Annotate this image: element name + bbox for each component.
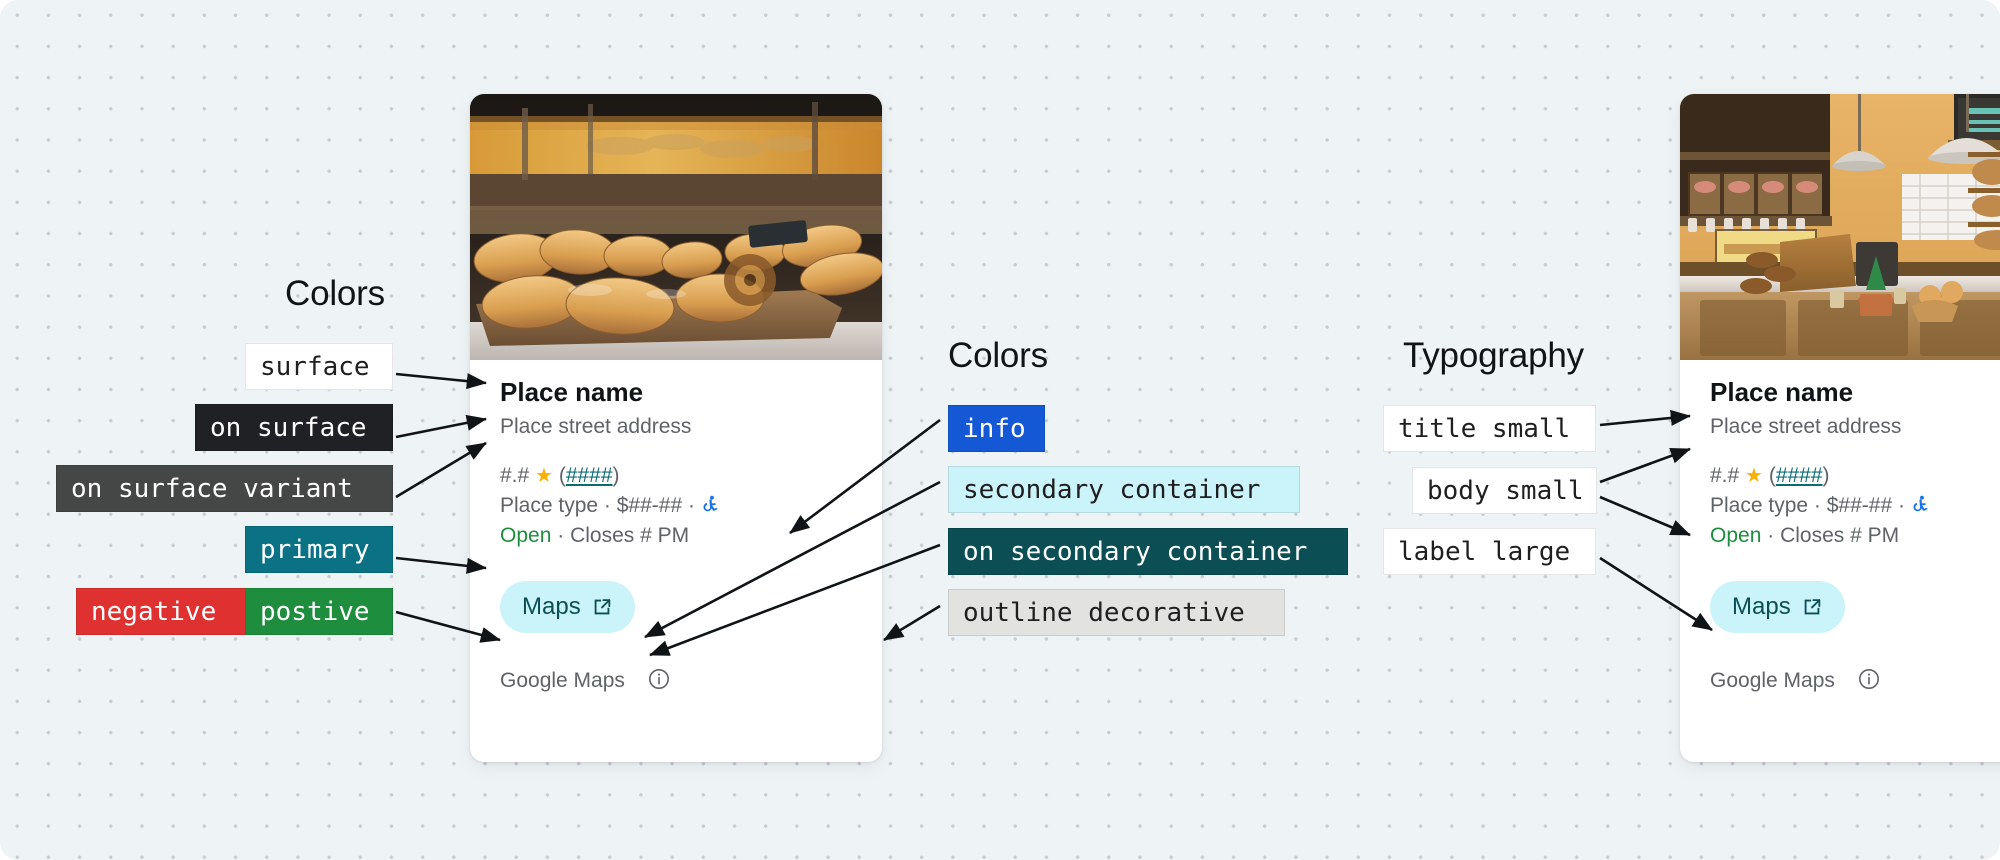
color-chip-label: surface bbox=[260, 354, 370, 380]
place-name: Place name bbox=[1710, 376, 2000, 409]
place-rating-row: #.# ★ (####) bbox=[1710, 462, 2000, 490]
status-open: Open bbox=[1710, 524, 1761, 547]
type-chip-title-small[interactable]: title small bbox=[1383, 405, 1596, 452]
place-type: Place type bbox=[1710, 494, 1808, 517]
color-chip-secondary-container[interactable]: secondary container bbox=[948, 466, 1300, 513]
type-chip-label: label large bbox=[1398, 539, 1570, 565]
rating-value: #.# bbox=[1710, 464, 1739, 487]
dot-separator: · bbox=[604, 494, 611, 517]
dot-separator: · bbox=[1814, 494, 1821, 517]
place-type-row: Place type · $##-## · bbox=[500, 492, 852, 520]
place-card-body: Place name Place street address #.# ★ (#… bbox=[1680, 376, 2000, 722]
place-type: Place type bbox=[500, 494, 598, 517]
color-chip-surface[interactable]: surface bbox=[245, 343, 393, 390]
section-title-colors-left: Colors bbox=[285, 274, 385, 314]
color-chip-label: info bbox=[963, 416, 1026, 442]
google-maps-attribution: Google Maps bbox=[500, 669, 625, 693]
color-chip-info[interactable]: info bbox=[948, 405, 1045, 452]
place-type-row: Place type · $##-## · bbox=[1710, 492, 2000, 520]
type-chip-label-large[interactable]: label large bbox=[1383, 528, 1596, 575]
color-chip-label: on surface variant bbox=[71, 476, 353, 502]
place-card-footer: Google Maps bbox=[500, 667, 852, 722]
dot-separator: · bbox=[688, 494, 695, 517]
section-title-typography: Typography bbox=[1403, 336, 1584, 376]
rating-value: #.# bbox=[500, 464, 529, 487]
place-rating-row: #.# ★ (####) bbox=[500, 462, 852, 490]
star-icon: ★ bbox=[1745, 465, 1763, 487]
color-chip-label: on secondary container bbox=[963, 539, 1307, 565]
color-chip-label: postive bbox=[260, 599, 370, 625]
color-chip-label: on surface bbox=[210, 415, 367, 441]
place-hours-row: Open · Closes # PM bbox=[500, 522, 852, 550]
place-card-body: Place name Place street address #.# ★ (#… bbox=[470, 376, 882, 722]
color-chip-on-secondary-container[interactable]: on secondary container bbox=[948, 528, 1348, 575]
review-close-paren: ) bbox=[1823, 464, 1830, 487]
maps-button[interactable]: Maps bbox=[1710, 581, 1845, 633]
place-photo bbox=[470, 94, 882, 360]
place-price: $##-## bbox=[1827, 494, 1892, 517]
wheelchair-icon bbox=[701, 495, 722, 517]
star-icon: ★ bbox=[535, 465, 553, 487]
wheelchair-icon bbox=[1911, 495, 1932, 517]
status-open: Open bbox=[500, 524, 551, 547]
place-name: Place name bbox=[500, 376, 852, 409]
google-maps-attribution: Google Maps bbox=[1710, 669, 1835, 693]
dot-separator: · bbox=[1898, 494, 1905, 517]
color-chip-outline-decorative[interactable]: outline decorative bbox=[948, 589, 1285, 636]
canvas-stage: Colors Colors Typography surface on surf… bbox=[0, 0, 2000, 860]
place-card-left[interactable]: Place name Place street address #.# ★ (#… bbox=[470, 94, 882, 762]
color-chip-label: outline decorative bbox=[963, 600, 1245, 626]
color-chip-label: secondary container bbox=[963, 477, 1260, 503]
maps-button[interactable]: Maps bbox=[500, 581, 635, 633]
place-address: Place street address bbox=[1710, 413, 2000, 440]
closing-time: Closes # PM bbox=[570, 524, 689, 547]
open-in-new-icon bbox=[591, 596, 613, 618]
dot-separator: · bbox=[1767, 524, 1774, 547]
place-photo bbox=[1680, 94, 2000, 360]
review-open-paren: ( bbox=[559, 464, 566, 487]
review-open-paren: ( bbox=[1769, 464, 1776, 487]
closing-time: Closes # PM bbox=[1780, 524, 1899, 547]
place-hours-row: Open · Closes # PM bbox=[1710, 522, 2000, 550]
type-chip-label: body small bbox=[1427, 478, 1584, 504]
review-count-link[interactable]: #### bbox=[1776, 464, 1823, 487]
info-circle-icon[interactable] bbox=[1857, 667, 1881, 696]
dot-separator: · bbox=[557, 524, 564, 547]
review-count-link[interactable]: #### bbox=[566, 464, 613, 487]
color-chip-on-surface[interactable]: on surface bbox=[195, 404, 393, 451]
color-chip-negative[interactable]: negative bbox=[76, 588, 246, 635]
color-chip-label: negative bbox=[91, 599, 216, 625]
place-price: $##-## bbox=[617, 494, 682, 517]
place-address: Place street address bbox=[500, 413, 852, 440]
place-card-footer: Google Maps bbox=[1710, 667, 2000, 722]
color-chip-on-surface-variant[interactable]: on surface variant bbox=[56, 465, 393, 512]
color-chip-postive[interactable]: postive bbox=[245, 588, 393, 635]
type-chip-body-small[interactable]: body small bbox=[1412, 467, 1597, 514]
section-title-colors-mid: Colors bbox=[948, 336, 1048, 376]
review-close-paren: ) bbox=[613, 464, 620, 487]
maps-button-label: Maps bbox=[522, 593, 581, 621]
maps-button-label: Maps bbox=[1732, 593, 1791, 621]
place-card-right[interactable]: Place name Place street address #.# ★ (#… bbox=[1680, 94, 2000, 762]
color-chip-primary[interactable]: primary bbox=[245, 526, 393, 573]
type-chip-label: title small bbox=[1398, 416, 1570, 442]
color-chip-label: primary bbox=[260, 537, 370, 563]
open-in-new-icon bbox=[1801, 596, 1823, 618]
info-circle-icon[interactable] bbox=[647, 667, 671, 696]
